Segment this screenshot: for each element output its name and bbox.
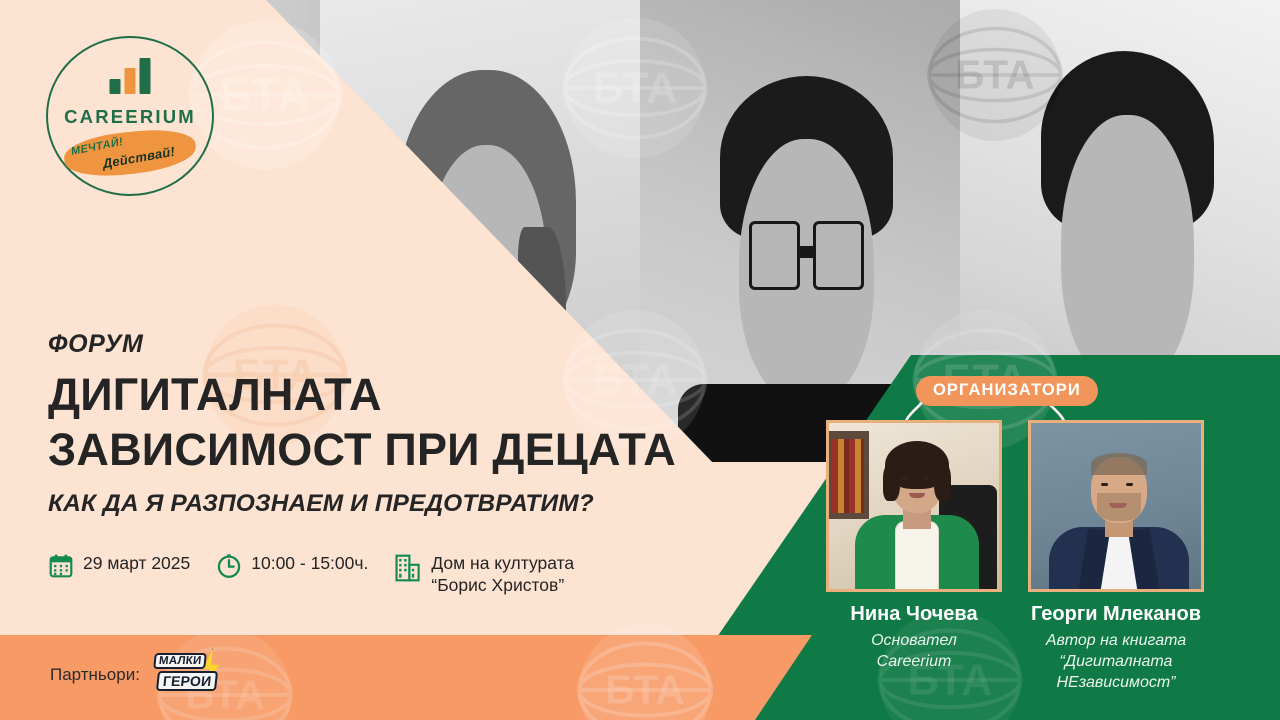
avatar [1028, 420, 1204, 592]
organizer-role-line1: Основател [871, 632, 957, 649]
organizer-role-line1: Автор на книгата [1046, 632, 1186, 649]
event-venue-label: Дом на културата “Борис Христов” [431, 552, 574, 596]
partners-label: Партньори: [50, 665, 140, 685]
clock-icon [216, 553, 242, 584]
partner-logo-line2: ГЕРОИ [156, 671, 218, 691]
portrait-georgi-mlekanov [1031, 423, 1201, 589]
partner-logo-malki-geroi[interactable]: МАЛКИ ГЕРОИ [154, 650, 228, 700]
organizer-role: Автор на книгата “Дигиталната НЕзависимо… [1028, 630, 1204, 693]
page-title-line1: ДИГИТАЛНАТА [48, 367, 728, 422]
avatar [826, 420, 1002, 592]
event-venue: Дом на културата “Борис Христов” [394, 552, 574, 596]
organizer-role-line2: “Дигиталната [1060, 653, 1173, 670]
building-icon [394, 553, 422, 588]
event-time: 10:00 - 15:00ч. [216, 552, 368, 584]
organizer-role-line3: НЕзависимост” [1056, 674, 1175, 691]
event-time-label: 10:00 - 15:00ч. [251, 552, 368, 574]
organizers-badge: ОРГАНИЗАТОРИ [916, 376, 1098, 406]
partner-logo-line1: МАЛКИ [153, 653, 207, 669]
portrait-nina-chocheva [829, 423, 999, 589]
event-kicker: ФОРУМ [48, 330, 728, 359]
event-poster: БТА БТА БТА [0, 0, 1280, 720]
organizer-role: Основател Careerium [826, 630, 1002, 672]
page-subtitle: КАК ДА Я РАЗПОЗНАЕМ И ПРЕДОТВРАТИМ? [48, 490, 728, 518]
organizers-list: Нина Чочева Основател Careerium [826, 420, 1204, 693]
page-title-line2: ЗАВИСИМОСТ ПРИ ДЕЦАТА [48, 422, 728, 477]
event-info-row: 29 март 2025 10:00 - 15:00ч. [48, 552, 574, 596]
event-date: 29 март 2025 [48, 552, 190, 584]
event-date-label: 29 март 2025 [83, 552, 190, 574]
organizer-name: Георги Млеканов [1028, 603, 1204, 626]
headline-block: ФОРУМ ДИГИТАЛНАТА ЗАВИСИМОСТ ПРИ ДЕЦАТА … [48, 330, 728, 518]
event-venue-line2: “Борис Христов” [431, 575, 564, 595]
organizer-card: Нина Чочева Основател Careerium [826, 420, 1002, 693]
partners-block: Партньори: МАЛКИ ГЕРОИ [50, 650, 228, 700]
organizer-card: Георги Млеканов Автор на книгата “Дигита… [1028, 420, 1204, 693]
logo-wordmark: CAREERIUM [46, 106, 214, 128]
organizer-name: Нина Чочева [826, 603, 1002, 626]
calendar-icon [48, 553, 74, 584]
bar-chart-icon [110, 58, 151, 94]
event-venue-line1: Дом на културата [431, 553, 574, 573]
careerium-logo[interactable]: CAREERIUM МЕЧТАЙ! Действай! [46, 36, 214, 196]
organizer-role-line2: Careerium [877, 653, 952, 670]
